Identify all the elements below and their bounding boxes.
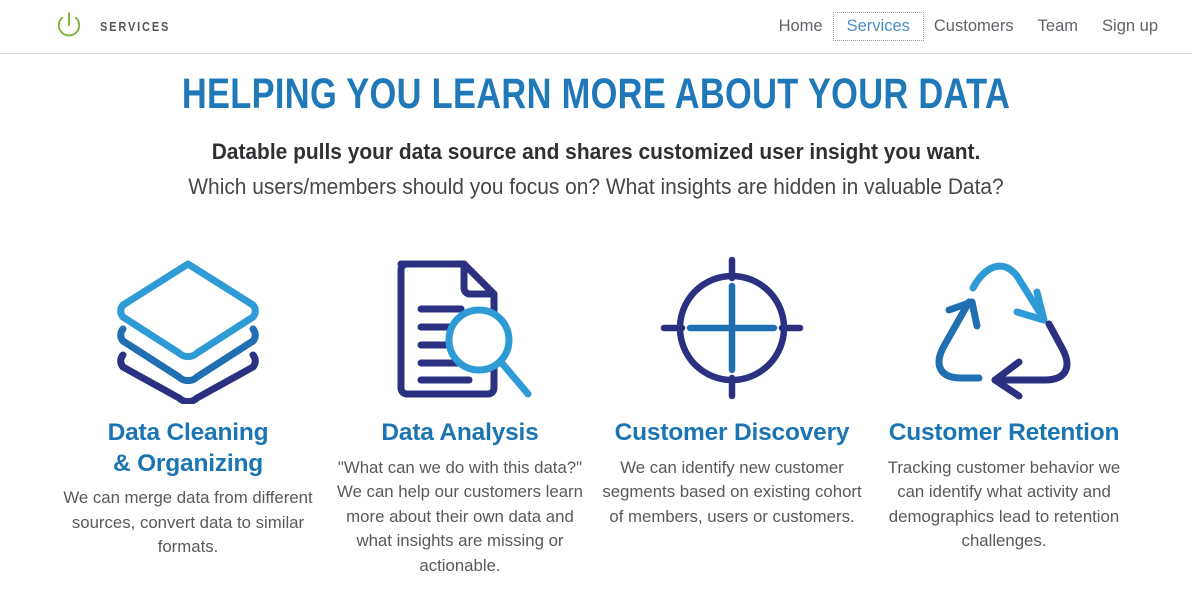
service-icon-wrap xyxy=(602,248,862,408)
main-nav: Home Services Customers Team Sign up xyxy=(767,14,1170,39)
stacked-layers-icon xyxy=(105,252,271,404)
service-title: Data Analysis xyxy=(330,418,590,449)
service-title-line1: Data Cleaning xyxy=(108,419,269,446)
service-description: We can merge data from different sources… xyxy=(58,486,318,560)
hero-subtitle: Which users/members should you focus on?… xyxy=(42,174,1151,200)
service-icon-wrap xyxy=(874,248,1134,408)
service-card-customer-discovery: Customer Discovery We can identify new c… xyxy=(596,248,868,529)
power-icon xyxy=(52,10,86,44)
service-description: "What can we do with this data?" We can … xyxy=(330,456,590,579)
nav-item-services[interactable]: Services xyxy=(835,14,922,39)
service-description: We can identify new customer segments ba… xyxy=(602,456,862,530)
brand-name: SERVICES xyxy=(100,20,170,34)
service-icon-wrap xyxy=(58,248,318,408)
page-title: HELPING YOU LEARN MORE ABOUT YOUR DATA xyxy=(119,72,1073,117)
crosshair-target-icon xyxy=(657,252,807,404)
nav-item-customers[interactable]: Customers xyxy=(922,14,1026,39)
service-title: Data Cleaning& Organizing xyxy=(58,418,318,479)
nav-item-sign-up[interactable]: Sign up xyxy=(1090,14,1170,39)
service-title: Customer Retention xyxy=(874,418,1134,449)
site-header: SERVICES Home Services Customers Team Si… xyxy=(0,0,1192,54)
hero-subtitle-strong: Datable pulls your data source and share… xyxy=(42,139,1151,165)
service-card-data-analysis: Data Analysis "What can we do with this … xyxy=(324,248,596,578)
document-search-icon xyxy=(383,252,538,404)
service-icon-wrap xyxy=(330,248,590,408)
service-title: Customer Discovery xyxy=(602,418,862,449)
hero-section: HELPING YOU LEARN MORE ABOUT YOUR DATA D… xyxy=(0,54,1192,200)
service-card-data-cleaning: Data Cleaning& Organizing We can merge d… xyxy=(52,248,324,560)
service-card-customer-retention: Customer Retention Tracking customer beh… xyxy=(868,248,1140,554)
nav-item-home[interactable]: Home xyxy=(767,14,835,39)
nav-item-team[interactable]: Team xyxy=(1026,14,1090,39)
brand-logo-link[interactable]: SERVICES xyxy=(52,10,180,44)
service-description: Tracking customer behavior we can identi… xyxy=(874,456,1134,554)
service-title-line2: & Organizing xyxy=(113,450,263,477)
services-grid: Data Cleaning& Organizing We can merge d… xyxy=(0,248,1192,578)
recycle-arrows-icon xyxy=(927,252,1082,404)
